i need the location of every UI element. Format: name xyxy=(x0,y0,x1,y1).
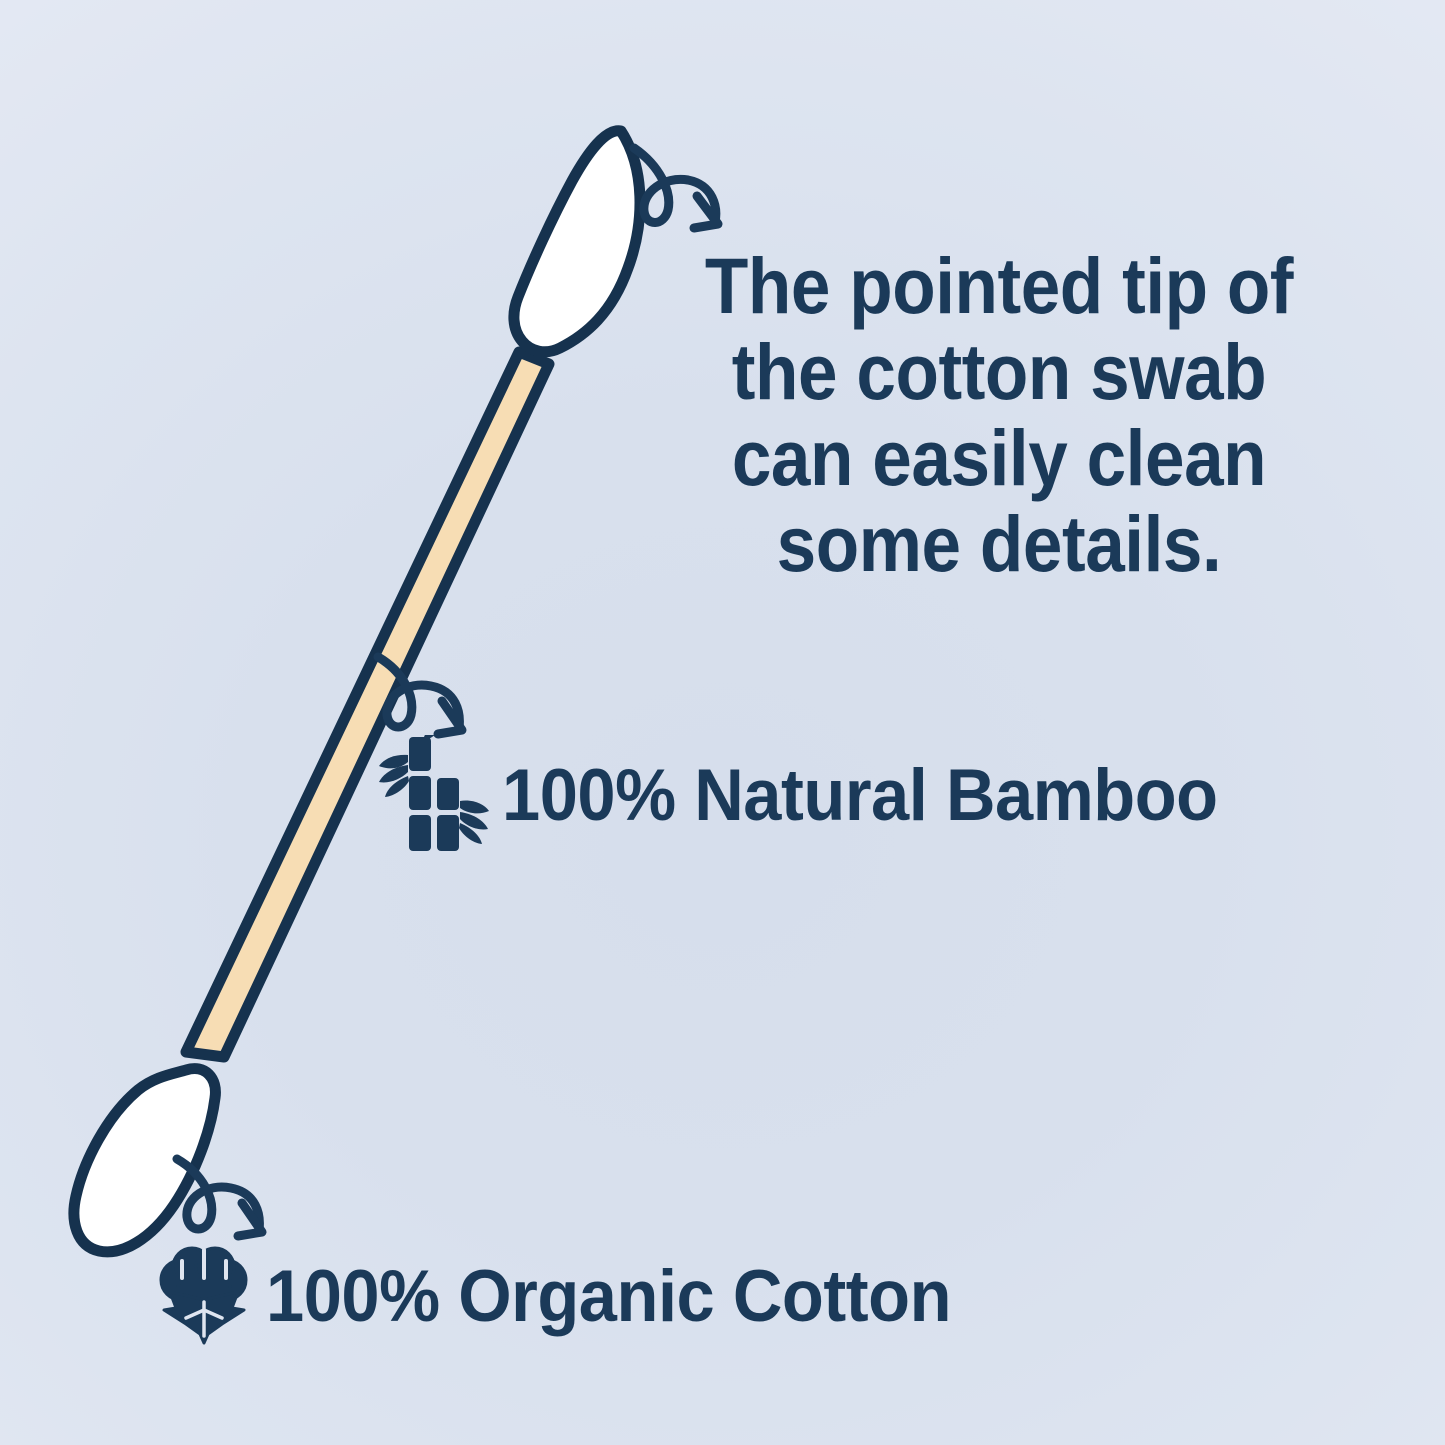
bamboo-stick xyxy=(186,352,549,1057)
feature-label-cotton: 100% Organic Cotton xyxy=(266,1260,951,1333)
product-infographic: The pointed tip of the cotton swab can e… xyxy=(0,0,1445,1445)
pointed-cotton-tip xyxy=(514,131,640,352)
swab-illustration xyxy=(0,0,1445,1445)
bamboo-stalk-icon xyxy=(378,735,490,855)
feature-row-cotton: 100% Organic Cotton xyxy=(152,1244,995,1348)
feature-label-bamboo: 100% Natural Bamboo xyxy=(502,759,1218,832)
arrow-to-bamboo-label-icon xyxy=(378,657,462,734)
headline-text: The pointed tip of the cotton swab can e… xyxy=(674,243,1324,587)
arrow-to-headline-icon xyxy=(634,148,718,228)
arrow-to-cotton-label-icon xyxy=(177,1159,262,1236)
cotton-boll-icon xyxy=(152,1244,256,1348)
feature-row-bamboo: 100% Natural Bamboo xyxy=(378,735,1263,855)
